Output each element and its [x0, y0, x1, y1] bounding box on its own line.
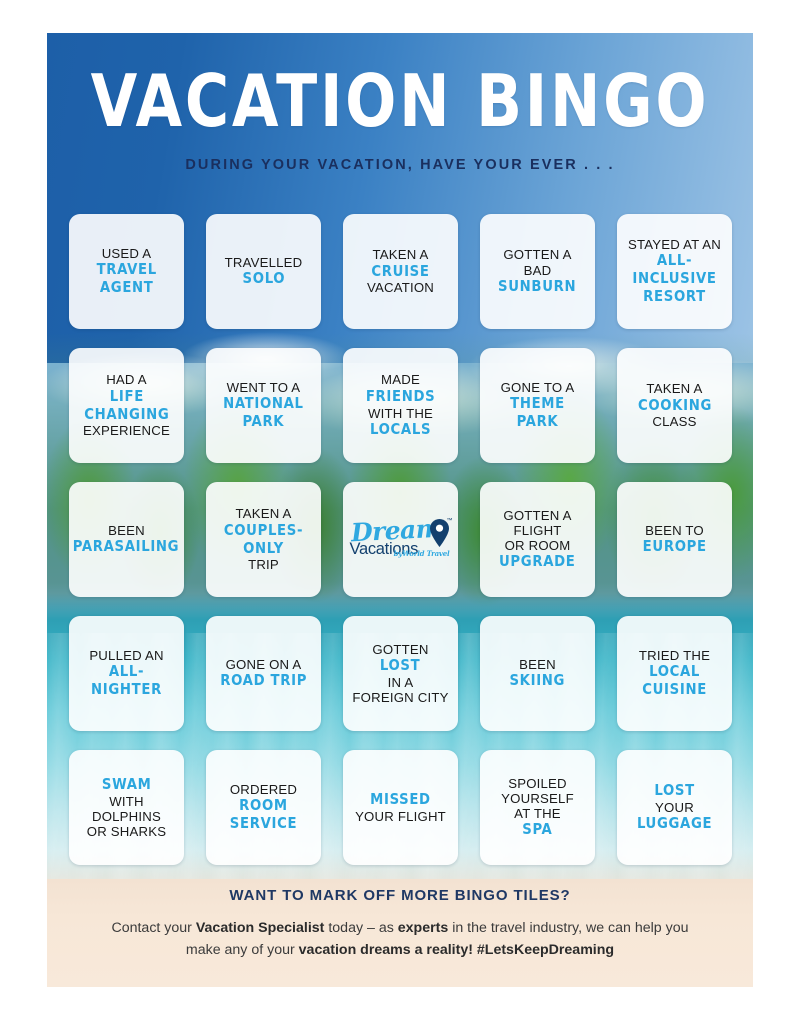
- bingo-tile-line: ALL-NIGHTER: [77, 663, 177, 699]
- bingo-tile-line: OR SHARKS: [87, 824, 166, 839]
- bingo-tile-text: GOTTEN ABADSUNBURN: [496, 247, 578, 296]
- bingo-tile-line: GOTTEN A: [496, 247, 578, 262]
- bingo-tile[interactable]: TAKEN ACOOKINGCLASS: [617, 348, 732, 463]
- poster-header: VACATION BINGO DURING YOUR VACATION, HAV…: [47, 33, 753, 173]
- footer-text: Contact your: [111, 920, 195, 936]
- bingo-tile-line: VACATION: [367, 280, 434, 295]
- bingo-tile-line: NATIONAL: [223, 395, 304, 413]
- footer-emphasis: Vacation Specialist: [196, 920, 325, 936]
- bingo-tile[interactable]: ORDEREDROOMSERVICE: [206, 750, 321, 865]
- bingo-tile-text: MISSEDYOUR FLIGHT: [355, 791, 446, 824]
- bingo-tile-text: GOTTENLOSTIN AFOREIGN CITY: [352, 642, 448, 706]
- bingo-tile-text: SPOILEDYOURSELFAT THESPA: [501, 776, 574, 840]
- bingo-tile-line: GONE TO A: [485, 380, 590, 395]
- bingo-tile[interactable]: BEEN TOEUROPE: [617, 482, 732, 597]
- bingo-tile-line: BEEN: [508, 657, 567, 672]
- bingo-tile[interactable]: WENT TO ANATIONALPARK: [206, 348, 321, 463]
- bingo-tile[interactable]: GONE TO ATHEME PARK: [480, 348, 595, 463]
- bingo-tile-line: FOREIGN CITY: [352, 690, 448, 705]
- bingo-tile[interactable]: PULLED ANALL-NIGHTER: [69, 616, 184, 731]
- bingo-tile-line: YOURSELF: [501, 791, 574, 806]
- bingo-tile-line: GOTTEN: [352, 642, 448, 657]
- bingo-tile-line: FRIENDS: [366, 388, 436, 406]
- bingo-tile-text: TAKEN ACOOKINGCLASS: [636, 381, 714, 430]
- bingo-tile-text: TAKEN ACRUISEVACATION: [367, 247, 434, 296]
- footer-text: today – as: [324, 920, 397, 936]
- bingo-tile-text: USED ATRAVELAGENT: [95, 246, 158, 297]
- bingo-tile-line: GONE ON A: [218, 657, 309, 672]
- bingo-tile-line: CRUISE: [369, 263, 433, 281]
- bingo-tile-line: SPOILED: [501, 776, 574, 791]
- bingo-tile-line: BAD: [496, 263, 578, 278]
- bingo-tile-line: BEEN: [70, 523, 182, 538]
- bingo-tile-line: EUROPE: [642, 538, 706, 556]
- bingo-tile-line: MADE: [364, 372, 437, 387]
- vacation-bingo-poster: VACATION BINGO DURING YOUR VACATION, HAV…: [47, 33, 753, 987]
- logo-tagline: byWorld Travel: [394, 549, 450, 558]
- bingo-tile[interactable]: BEENPARASAILING: [69, 482, 184, 597]
- bingo-tile-line: WITH THE: [364, 406, 437, 421]
- bingo-tile-line: LIFE: [84, 388, 169, 406]
- bingo-tile-line: ORDERED: [228, 782, 299, 797]
- bingo-tile-line: TRIP: [211, 557, 316, 572]
- bingo-tile-line: GOTTEN A: [497, 508, 578, 523]
- bingo-tile-text: BEENSKIING: [508, 657, 567, 690]
- bingo-tile-line: UPGRADE: [499, 553, 576, 571]
- bingo-tile-line: MISSED: [357, 791, 443, 809]
- bingo-tile-line: RESORT: [625, 288, 725, 306]
- bingo-tile-line: TAKEN A: [211, 506, 316, 521]
- bingo-tile-line: CUISINE: [641, 681, 709, 699]
- bingo-tile-line: YOUR FLIGHT: [355, 809, 446, 824]
- bingo-tile-text: ORDEREDROOMSERVICE: [228, 782, 299, 833]
- bingo-tile[interactable]: LOSTYOURLUGGAGE: [617, 750, 732, 865]
- bingo-tile[interactable]: GONE ON AROAD TRIP: [206, 616, 321, 731]
- bingo-tile-text: HAD ALIFECHANGINGEXPERIENCE: [82, 372, 172, 439]
- bingo-tile-line: TRAVELLED: [225, 255, 303, 270]
- bingo-tile-line: PARK: [223, 413, 304, 431]
- footer-emphasis: experts: [398, 920, 448, 936]
- bingo-tile-text: TRIED THELOCALCUISINE: [639, 648, 710, 699]
- bingo-tile-line: LOCAL: [641, 663, 709, 681]
- bingo-tile-text: WENT TO ANATIONALPARK: [221, 380, 306, 431]
- bingo-tile-line: PARASAILING: [73, 538, 179, 556]
- bingo-tile-text: MADEFRIENDSWITH THELOCALS: [364, 372, 437, 439]
- bingo-tile-text: TRAVELLEDSOLO: [225, 255, 303, 288]
- bingo-tile-line: TAKEN A: [367, 247, 434, 262]
- bingo-tile-text: BEEN TOEUROPE: [641, 523, 708, 556]
- bingo-grid: USED ATRAVELAGENTTRAVELLEDSOLOTAKEN ACRU…: [69, 214, 731, 865]
- bingo-tile-line: SPA: [503, 821, 572, 839]
- bingo-tile-line: STAYED AT AN: [622, 237, 727, 252]
- bingo-tile-line: COOKING: [637, 397, 711, 415]
- bingo-tile-line: DOLPHINS: [87, 809, 166, 824]
- bingo-tile-line: ROAD TRIP: [220, 672, 307, 690]
- bingo-tile-text: STAYED AT ANALL-INCLUSIVERESORT: [622, 237, 727, 306]
- bingo-tile-line: SERVICE: [230, 815, 297, 833]
- footer-heading: WANT TO MARK OFF MORE BINGO TILES?: [93, 887, 707, 904]
- bingo-tile-line: TRAVEL: [96, 261, 156, 279]
- footer-emphasis: vacation dreams a reality! #LetsKeepDrea…: [299, 942, 614, 958]
- bingo-tile-line: EXPERIENCE: [82, 423, 172, 438]
- bingo-tile[interactable]: TAKEN ACRUISEVACATION: [343, 214, 458, 329]
- bingo-tile[interactable]: SPOILEDYOURSELFAT THESPA: [480, 750, 595, 865]
- bingo-tile[interactable]: TRAVELLEDSOLO: [206, 214, 321, 329]
- bingo-tile-line: ALL-INCLUSIVE: [625, 252, 725, 288]
- bingo-tile[interactable]: BEENSKIING: [480, 616, 595, 731]
- bingo-tile[interactable]: STAYED AT ANALL-INCLUSIVERESORT: [617, 214, 732, 329]
- bingo-tile-line: WENT TO A: [221, 380, 306, 395]
- bingo-tile-line: AGENT: [96, 279, 156, 297]
- bingo-tile-line: BEEN TO: [641, 523, 708, 538]
- bingo-tile-line: SWAM: [89, 776, 165, 794]
- bingo-tile[interactable]: GOTTENLOSTIN AFOREIGN CITY: [343, 616, 458, 731]
- bingo-tile-line: TRIED THE: [639, 648, 710, 663]
- bingo-tile[interactable]: TRIED THELOCALCUISINE: [617, 616, 732, 731]
- bingo-tile-line: ROOM: [230, 797, 297, 815]
- poster-footer: WANT TO MARK OFF MORE BINGO TILES? Conta…: [47, 861, 753, 987]
- bingo-tile-line: LOCALS: [366, 421, 436, 439]
- page-subtitle: DURING YOUR VACATION, HAVE YOUR EVER . .…: [47, 157, 753, 173]
- bingo-free-space-tile[interactable]: DreamVacations™byWorld Travel: [343, 482, 458, 597]
- bingo-tile-line: SKIING: [510, 672, 566, 690]
- bingo-tile-text: SWAMWITHDOLPHINSOR SHARKS: [87, 776, 166, 840]
- bingo-tile-line: LUGGAGE: [637, 815, 712, 833]
- bingo-tile[interactable]: HAD ALIFECHANGINGEXPERIENCE: [69, 348, 184, 463]
- bingo-tile-line: LOST: [355, 657, 446, 675]
- bingo-tile-line: SUNBURN: [498, 278, 576, 296]
- bingo-tile-text: GONE ON AROAD TRIP: [218, 657, 309, 690]
- bingo-tile-line: WITH: [87, 794, 166, 809]
- bingo-tile-line: COUPLES-ONLY: [214, 522, 314, 558]
- bingo-tile-line: THEME PARK: [488, 395, 588, 431]
- bingo-tile[interactable]: GOTTEN AFLIGHTOR ROOMUPGRADE: [480, 482, 595, 597]
- bingo-tile[interactable]: MISSEDYOUR FLIGHT: [343, 750, 458, 865]
- page-title: VACATION BINGO: [72, 65, 729, 137]
- bingo-tile[interactable]: USED ATRAVELAGENT: [69, 214, 184, 329]
- bingo-tile-line: SOLO: [227, 270, 301, 288]
- bingo-tile-text: TAKEN ACOUPLES-ONLYTRIP: [211, 506, 316, 573]
- bingo-tile-line: FLIGHT: [497, 523, 578, 538]
- bingo-tile-text: PULLED ANALL-NIGHTER: [74, 648, 179, 699]
- bingo-tile-text: GOTTEN AFLIGHTOR ROOMUPGRADE: [497, 508, 578, 572]
- bingo-tile-line: USED A: [95, 246, 158, 261]
- bingo-tile-line: TAKEN A: [636, 381, 714, 396]
- bingo-tile-line: YOUR: [635, 800, 714, 815]
- bingo-tile[interactable]: SWAMWITHDOLPHINSOR SHARKS: [69, 750, 184, 865]
- logo-trademark: ™: [447, 518, 453, 524]
- dream-vacations-logo: DreamVacations™byWorld Travel: [349, 517, 453, 563]
- bingo-tile-line: IN A: [352, 675, 448, 690]
- bingo-tile-line: AT THE: [501, 806, 574, 821]
- bingo-tile-line: CHANGING: [84, 406, 169, 424]
- bingo-tile[interactable]: MADEFRIENDSWITH THELOCALS: [343, 348, 458, 463]
- bingo-tile-line: LOST: [637, 782, 712, 800]
- bingo-tile-text: LOSTYOURLUGGAGE: [635, 782, 714, 833]
- bingo-tile-line: HAD A: [82, 372, 172, 387]
- bingo-tile-line: PULLED AN: [74, 648, 179, 663]
- bingo-tile-line: CLASS: [636, 414, 714, 429]
- bingo-tile[interactable]: GOTTEN ABADSUNBURN: [480, 214, 595, 329]
- bingo-tile-line: OR ROOM: [497, 538, 578, 553]
- bingo-tile-text: BEENPARASAILING: [70, 523, 182, 556]
- bingo-tile-text: GONE TO ATHEME PARK: [485, 380, 590, 431]
- footer-body: Contact your Vacation Specialist today –…: [93, 917, 707, 961]
- bingo-tile[interactable]: TAKEN ACOUPLES-ONLYTRIP: [206, 482, 321, 597]
